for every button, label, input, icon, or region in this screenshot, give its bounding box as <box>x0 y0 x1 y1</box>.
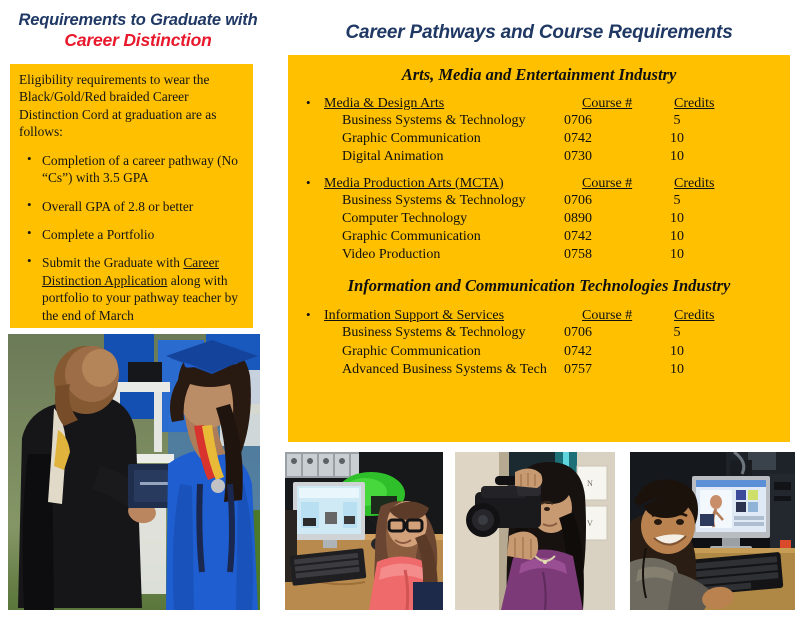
left-heading-line-2: Career Distinction <box>0 31 276 50</box>
bullet-icon: • <box>306 307 324 323</box>
course-number: 0706 <box>564 192 656 210</box>
course-number: 0890 <box>564 210 656 228</box>
course-number: 0742 <box>564 343 656 361</box>
pathway-name: Media Production Arts (MCTA) <box>324 176 582 192</box>
table-row: Digital Animation 0730 10 <box>298 148 780 166</box>
course-name: Computer Technology <box>306 210 564 228</box>
course-number: 0742 <box>564 228 656 246</box>
course-number: 0730 <box>564 148 656 166</box>
course-name: Business Systems & Technology <box>306 324 564 342</box>
pathway-header-row: • Information Support & Services Course … <box>298 307 780 324</box>
table-row: Video Production 0758 10 <box>298 246 780 264</box>
table-row: Business Systems & Technology 0706 5 <box>298 192 780 210</box>
course-number: 0706 <box>564 112 656 130</box>
course-credits: 5 <box>656 192 726 210</box>
column-header-course-number: Course # <box>582 176 674 192</box>
left-heading: Requirements to Graduate with Career Dis… <box>0 0 276 50</box>
list-item: • Overall GPA of 2.8 or better <box>19 198 244 215</box>
eligibility-intro-text: Eligibility requirements to wear the Bla… <box>19 71 244 141</box>
career-pathways-panel: Arts, Media and Entertainment Industry •… <box>288 55 790 442</box>
course-number: 0758 <box>564 246 656 264</box>
requirements-list: • Completion of a career pathway (No “Cs… <box>19 152 244 324</box>
left-heading-line-1: Requirements to Graduate with <box>0 12 276 30</box>
svg-text:V: V <box>587 519 593 528</box>
course-name: Digital Animation <box>306 148 564 166</box>
course-credits: 10 <box>656 228 726 246</box>
course-name: Graphic Communication <box>306 130 564 148</box>
table-row: Advanced Business Systems & Tech 0757 10 <box>298 361 780 379</box>
course-credits: 10 <box>656 148 726 166</box>
course-credits: 10 <box>656 210 726 228</box>
course-credits: 5 <box>656 112 726 130</box>
pathway-header-row: • Media Production Arts (MCTA) Course # … <box>298 175 780 192</box>
list-item: • Submit the Graduate with Career Distin… <box>19 254 244 324</box>
course-name: Video Production <box>306 246 564 264</box>
flyer-page: Requirements to Graduate with Career Dis… <box>0 0 800 618</box>
requirement-text: Submit the Graduate with <box>42 255 183 270</box>
table-row: Graphic Communication 0742 10 <box>298 130 780 148</box>
course-credits: 10 <box>656 246 726 264</box>
industry-heading-arts-media: Arts, Media and Entertainment Industry <box>298 61 780 87</box>
bullet-icon: • <box>27 253 32 270</box>
bullet-icon: • <box>306 175 324 191</box>
table-row: Graphic Communication 0742 10 <box>298 343 780 361</box>
list-item: • Completion of a career pathway (No “Cs… <box>19 152 244 187</box>
column-header-course-number: Course # <box>582 96 674 112</box>
bullet-icon: • <box>27 225 32 242</box>
table-row: Graphic Communication 0742 10 <box>298 228 780 246</box>
table-row: Business Systems & Technology 0706 5 <box>298 324 780 342</box>
industry-heading-ict: Information and Communication Technologi… <box>298 264 780 298</box>
course-credits: 10 <box>656 130 726 148</box>
course-name: Graphic Communication <box>306 343 564 361</box>
student-at-computer-graphics-photo <box>285 452 443 610</box>
column-header-credits: Credits <box>674 176 744 192</box>
bullet-icon: • <box>306 95 324 111</box>
pathway-information-support-services: • Information Support & Services Course … <box>298 307 780 379</box>
photo-strip: N V <box>285 452 795 612</box>
bullet-icon: • <box>27 197 32 214</box>
table-row: Business Systems & Technology 0706 5 <box>298 112 780 130</box>
course-name: Business Systems & Technology <box>306 112 564 130</box>
column-header-credits: Credits <box>674 308 744 324</box>
course-number: 0742 <box>564 130 656 148</box>
pathway-media-design-arts: • Media & Design Arts Course # Credits B… <box>298 95 780 167</box>
svg-text:N: N <box>587 479 593 488</box>
bullet-icon: • <box>27 151 32 168</box>
requirement-text: Completion of a career pathway (No “Cs”)… <box>42 153 238 185</box>
requirement-text: Complete a Portfolio <box>42 227 154 242</box>
left-column: Requirements to Graduate with Career Dis… <box>0 0 276 618</box>
pathway-media-production-arts: • Media Production Arts (MCTA) Course # … <box>298 175 780 265</box>
course-number: 0706 <box>564 324 656 342</box>
page-title: Career Pathways and Course Requirements <box>288 22 790 44</box>
course-credits: 10 <box>656 361 726 379</box>
graduation-ceremony-photo <box>8 334 260 610</box>
course-credits: 10 <box>656 343 726 361</box>
eligibility-panel: Eligibility requirements to wear the Bla… <box>10 64 253 328</box>
course-credits: 5 <box>656 324 726 342</box>
column-header-credits: Credits <box>674 96 744 112</box>
list-item: • Complete a Portfolio <box>19 226 244 243</box>
course-name: Business Systems & Technology <box>306 192 564 210</box>
column-header-course-number: Course # <box>582 308 674 324</box>
pathway-header-row: • Media & Design Arts Course # Credits <box>298 95 780 112</box>
course-name: Advanced Business Systems & Tech <box>306 361 564 379</box>
table-row: Computer Technology 0890 10 <box>298 210 780 228</box>
pathway-name: Information Support & Services <box>324 308 582 324</box>
course-name: Graphic Communication <box>306 228 564 246</box>
requirement-text: Overall GPA of 2.8 or better <box>42 199 193 214</box>
student-with-video-camera-photo: N V <box>455 452 615 610</box>
pathway-name: Media & Design Arts <box>324 96 582 112</box>
student-at-computer-animation-photo <box>630 452 795 610</box>
course-number: 0757 <box>564 361 656 379</box>
